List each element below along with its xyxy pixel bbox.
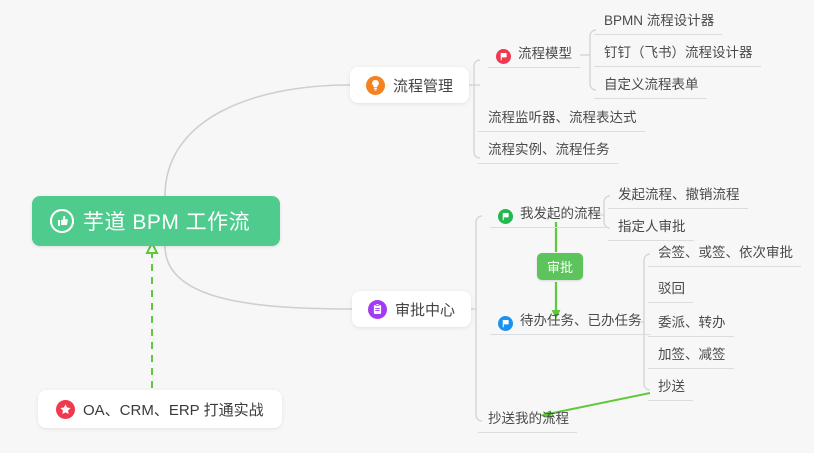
annotation-approval-pill: 审批 [537,253,583,280]
node-label: 驳回 [658,279,685,299]
branch-label: 流程管理 [393,75,453,96]
flag-icon [498,209,513,224]
root-node[interactable]: 芋道 BPM 工作流 [32,196,280,246]
node-instance-task[interactable]: 流程实例、流程任务 [478,138,618,164]
bottom-card-integration[interactable]: OA、CRM、ERP 打通实战 [38,390,282,428]
node-label: 抄送我的流程 [488,409,569,429]
branch-approval-center[interactable]: 审批中心 [352,291,471,327]
node-designated-approver[interactable]: 指定人审批 [608,215,694,241]
node-label: 发起流程、撤销流程 [618,185,740,205]
node-carbon-copy[interactable]: 抄送 [648,375,693,401]
node-custom-form[interactable]: 自定义流程表单 [594,73,707,99]
star-icon [56,400,75,419]
node-listener-expression[interactable]: 流程监听器、流程表达式 [478,106,645,132]
node-label: 抄送 [658,377,685,397]
flag-icon [498,316,513,331]
mindmap-canvas: 芋道 BPM 工作流 流程管理 流程模型 BPMN 流程设计器 钉钉（飞书）流程… [0,0,814,453]
bottom-card-label: OA、CRM、ERP 打通实战 [83,399,264,420]
annotation-label: 审批 [547,260,573,275]
thumbs-up-icon [50,209,74,233]
node-label: 指定人审批 [618,217,686,237]
clipboard-icon [368,300,387,319]
node-todo-done-tasks[interactable]: 待办任务、已办任务 [490,309,650,335]
branch-label: 审批中心 [395,299,455,320]
node-bpmn-designer[interactable]: BPMN 流程设计器 [594,9,722,35]
flag-icon [496,49,511,64]
node-cc-to-me-process[interactable]: 抄送我的流程 [478,407,577,433]
node-process-model[interactable]: 流程模型 [488,42,580,68]
node-label: 自定义流程表单 [604,75,699,95]
lightbulb-icon [366,76,385,95]
node-label: 钉钉（飞书）流程设计器 [604,43,753,63]
node-label: BPMN 流程设计器 [604,11,714,31]
node-label: 我发起的流程 [520,204,601,224]
node-delegate-transfer[interactable]: 委派、转办 [648,311,734,337]
node-label: 待办任务、已办任务 [520,311,642,331]
branch-process-management[interactable]: 流程管理 [350,67,469,103]
node-my-initiated-process[interactable]: 我发起的流程 [490,202,609,228]
node-reject[interactable]: 驳回 [648,277,693,303]
root-label: 芋道 BPM 工作流 [83,206,250,236]
node-label: 流程模型 [518,44,572,64]
node-label: 加签、减签 [658,345,726,365]
node-label: 流程实例、流程任务 [488,140,610,160]
node-start-cancel-process[interactable]: 发起流程、撤销流程 [608,183,748,209]
node-add-remove-sign[interactable]: 加签、减签 [648,343,734,369]
node-dingtalk-feishu-designer[interactable]: 钉钉（飞书）流程设计器 [594,41,761,67]
node-label: 会签、或签、依次审批 [658,243,793,263]
node-label: 委派、转办 [658,313,726,333]
node-label: 流程监听器、流程表达式 [488,108,637,128]
node-countersign[interactable]: 会签、或签、依次审批 [648,241,801,267]
